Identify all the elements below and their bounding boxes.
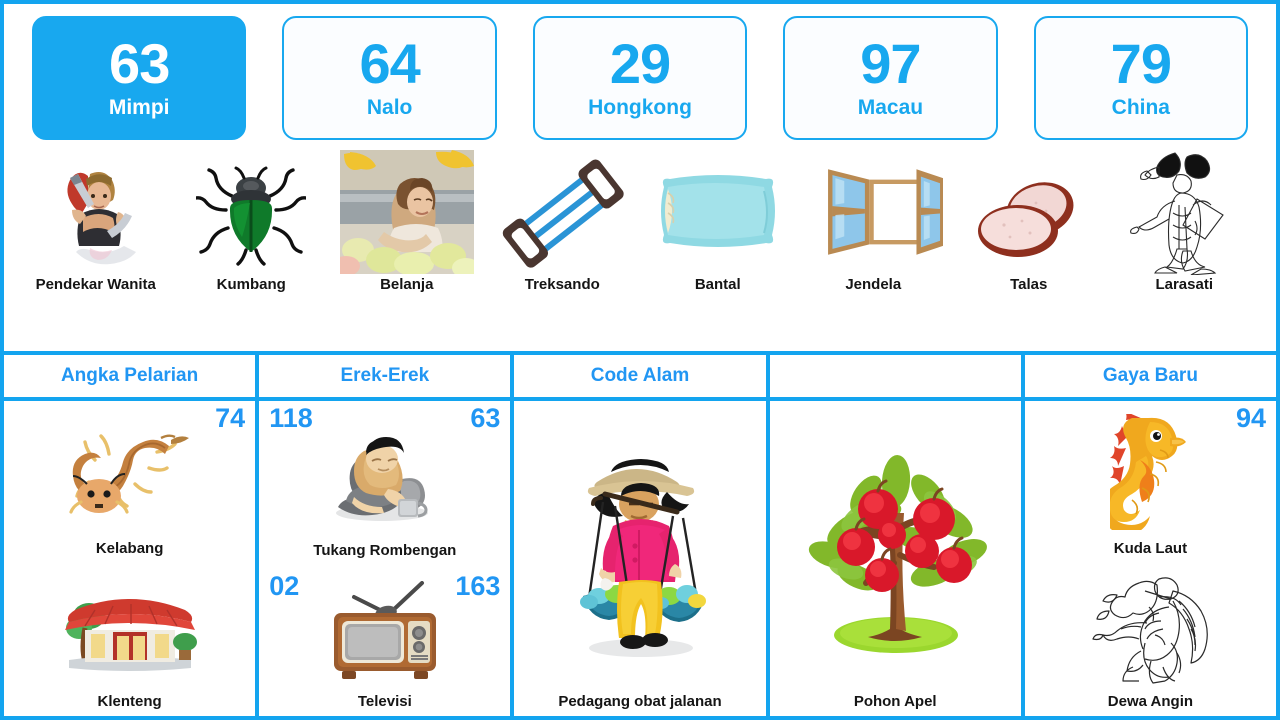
panel-cell[interactable]: 02 163: [259, 569, 510, 716]
panel-pohon-apel: Pohon Apel: [770, 355, 1021, 716]
panel-header-empty: [770, 355, 1021, 397]
cell-number-left: 02: [269, 573, 299, 600]
thumbnail-label: Talas: [1010, 276, 1047, 293]
item-label: Kelabang: [96, 540, 164, 559]
panel-body-pohon-apel: Pohon Apel: [770, 401, 1021, 716]
item-label: Televisi: [358, 693, 412, 712]
panel-cell[interactable]: 94: [1025, 401, 1276, 716]
top-section: 63 Mimpi 64 Nalo 29 Hongkong 97 Macau 79…: [4, 4, 1276, 351]
street-vendor-icon: [520, 405, 759, 693]
panel-angka-pelarian: Angka Pelarian 74: [4, 355, 255, 716]
panel-header-angka-pelarian: Angka Pelarian: [4, 355, 255, 397]
panel-body-erek-erek: 118 63: [259, 401, 510, 716]
list-item[interactable]: Kuda Laut: [1031, 405, 1270, 559]
market-card-china[interactable]: 79 China: [1034, 16, 1248, 140]
cell-number-left: 118: [269, 405, 313, 432]
thumbnail-larasati[interactable]: Larasati: [1109, 150, 1259, 293]
market-card-mimpi[interactable]: 63 Mimpi: [32, 16, 246, 140]
item-label: Dewa Angin: [1108, 693, 1193, 712]
market-card-row: 63 Mimpi 64 Nalo 29 Hongkong 97 Macau 79…: [4, 4, 1276, 144]
panel-header-erek-erek: Erek-Erek: [259, 355, 510, 397]
market-card-macau[interactable]: 97 Macau: [783, 16, 997, 140]
panel-title: Angka Pelarian: [61, 365, 198, 387]
panel-body-code-alam: Pedagang obat jalanan: [514, 401, 765, 716]
apple-tree-icon: [776, 405, 1015, 693]
resistance-band-icon: [492, 150, 632, 274]
cell-number-right: 163: [455, 573, 500, 600]
panel-code-alam: Code Alam: [514, 355, 765, 716]
thumbnail-label: Treksando: [525, 276, 600, 293]
thumbnail-label: Kumbang: [217, 276, 286, 293]
panel-row: Angka Pelarian 74: [4, 355, 1276, 716]
seahorse-icon: [1031, 405, 1270, 540]
market-card-label: Mimpi: [109, 96, 170, 120]
thumbnail-jendela[interactable]: Jendela: [798, 150, 948, 293]
pillow-icon: [648, 150, 788, 274]
market-card-number: 64: [359, 36, 419, 92]
cell-number-right: 94: [1236, 405, 1266, 432]
panel-erek-erek: Erek-Erek 118 63: [259, 355, 510, 716]
shopping-woman-photo: [337, 150, 477, 274]
cell-number-right: 74: [215, 405, 245, 432]
market-card-nalo[interactable]: 64 Nalo: [282, 16, 496, 140]
taro-slices-icon: [959, 150, 1099, 274]
temple-icon: [10, 559, 249, 694]
market-card-label: China: [1112, 96, 1170, 120]
thumbnail-label: Pendekar Wanita: [36, 276, 156, 293]
list-item[interactable]: Kelabang: [10, 405, 249, 559]
panel-body-gaya-baru: 94: [1025, 401, 1276, 716]
thumbnail-kumbang[interactable]: Kumbang: [176, 150, 326, 293]
panel-body-angka-pelarian: 74: [4, 401, 255, 716]
thumbnail-bantal[interactable]: Bantal: [643, 150, 793, 293]
market-card-label: Macau: [858, 96, 923, 120]
item-label: Pedagang obat jalanan: [558, 693, 721, 712]
market-card-number: 63: [109, 36, 169, 92]
wind-god-icon: [1031, 559, 1270, 694]
thumbnail-treksando[interactable]: Treksando: [487, 150, 637, 293]
thumbnail-label: Bantal: [695, 276, 741, 293]
panel-gaya-baru: Gaya Baru 94: [1025, 355, 1276, 716]
thumbnail-label: Jendela: [845, 276, 901, 293]
list-item[interactable]: Dewa Angin: [1031, 559, 1270, 713]
market-card-number: 79: [1111, 36, 1171, 92]
item-label: Kuda Laut: [1114, 540, 1187, 559]
beetle-icon: [181, 150, 321, 274]
thumbnail-label: Larasati: [1155, 276, 1213, 293]
thumbnail-row: Pendekar Wanita: [4, 144, 1276, 351]
panel-title: Gaya Baru: [1103, 365, 1198, 387]
warrior-woman-icon: [26, 150, 166, 274]
panel-cell[interactable]: Pedagang obat jalanan: [514, 401, 765, 716]
market-card-number: 29: [610, 36, 670, 92]
cell-number-right: 63: [470, 405, 500, 432]
panel-header-code-alam: Code Alam: [514, 355, 765, 397]
market-card-label: Hongkong: [588, 96, 692, 120]
thumbnail-belanja[interactable]: Belanja: [332, 150, 482, 293]
panel-title: Erek-Erek: [340, 365, 429, 387]
market-card-number: 97: [860, 36, 920, 92]
window-icon: [803, 150, 943, 274]
list-item[interactable]: Klenteng: [10, 559, 249, 713]
panel-cell[interactable]: Pohon Apel: [770, 401, 1021, 716]
item-label: Pohon Apel: [854, 693, 937, 712]
panel-cell[interactable]: 74: [4, 401, 255, 716]
thumbnail-label: Belanja: [380, 276, 433, 293]
panel-cell[interactable]: 118 63: [259, 401, 510, 565]
larasati-wayang-icon: [1114, 150, 1254, 274]
panel-header-gaya-baru: Gaya Baru: [1025, 355, 1276, 397]
market-card-hongkong[interactable]: 29 Hongkong: [533, 16, 747, 140]
item-label: Klenteng: [98, 693, 162, 712]
panel-title: Code Alam: [591, 365, 690, 387]
thumbnail-talas[interactable]: Talas: [954, 150, 1104, 293]
app-root: 63 Mimpi 64 Nalo 29 Hongkong 97 Macau 79…: [0, 0, 1280, 720]
thumbnail-pendekar-wanita[interactable]: Pendekar Wanita: [21, 150, 171, 293]
item-label: Tukang Rombengan: [313, 542, 456, 561]
market-card-label: Nalo: [367, 96, 413, 120]
centipede-icon: [10, 405, 249, 540]
